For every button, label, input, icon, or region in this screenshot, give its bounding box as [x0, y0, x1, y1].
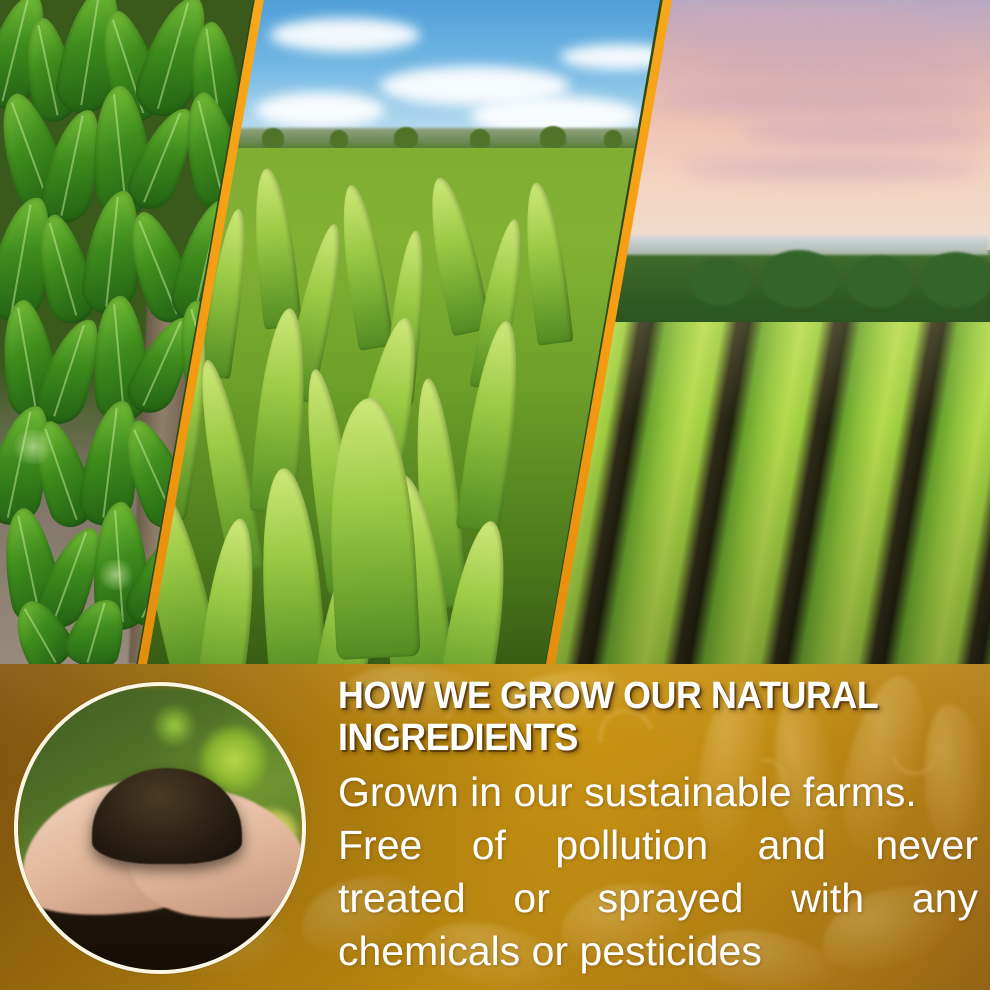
body-copy: Grown in our sustainable farms. Free of …	[338, 766, 978, 979]
body-line-3-word-2: or	[513, 872, 549, 925]
body-line-2-word-5: never	[875, 819, 978, 872]
poster-canvas: HOW WE GROW OUR NATURAL INGREDIENTS Grow…	[0, 0, 990, 990]
body-line-2-word-3: pollution	[555, 819, 708, 872]
body-line-2-word-1: Free	[338, 819, 422, 872]
headline-line-2: INGREDIENTS	[338, 717, 578, 759]
body-line-3: treated or sprayed with any	[338, 872, 978, 925]
body-line-3-word-3: sprayed	[598, 872, 744, 925]
body-line-2-word-2: of	[472, 819, 506, 872]
photo-strip	[0, 0, 990, 665]
body-line-3-word-5: any	[912, 872, 978, 925]
caption-text-block: HOW WE GROW OUR NATURAL INGREDIENTS Grow…	[338, 676, 978, 979]
body-line-2-word-4: and	[758, 819, 826, 872]
body-line-1: Grown in our sustainable farms.	[338, 766, 978, 819]
hands-holding-soil-photo	[14, 682, 306, 974]
caption-band: HOW WE GROW OUR NATURAL INGREDIENTS Grow…	[0, 664, 990, 990]
headline-line-1: HOW WE GROW OUR NATURAL	[338, 675, 878, 717]
body-line-2: Free of pollution and never	[338, 819, 978, 872]
headline: HOW WE GROW OUR NATURAL INGREDIENTS	[338, 676, 940, 760]
body-line-4: chemicals or pesticides	[338, 925, 978, 978]
body-line-3-word-1: treated	[338, 872, 466, 925]
body-line-3-word-4: with	[791, 872, 864, 925]
